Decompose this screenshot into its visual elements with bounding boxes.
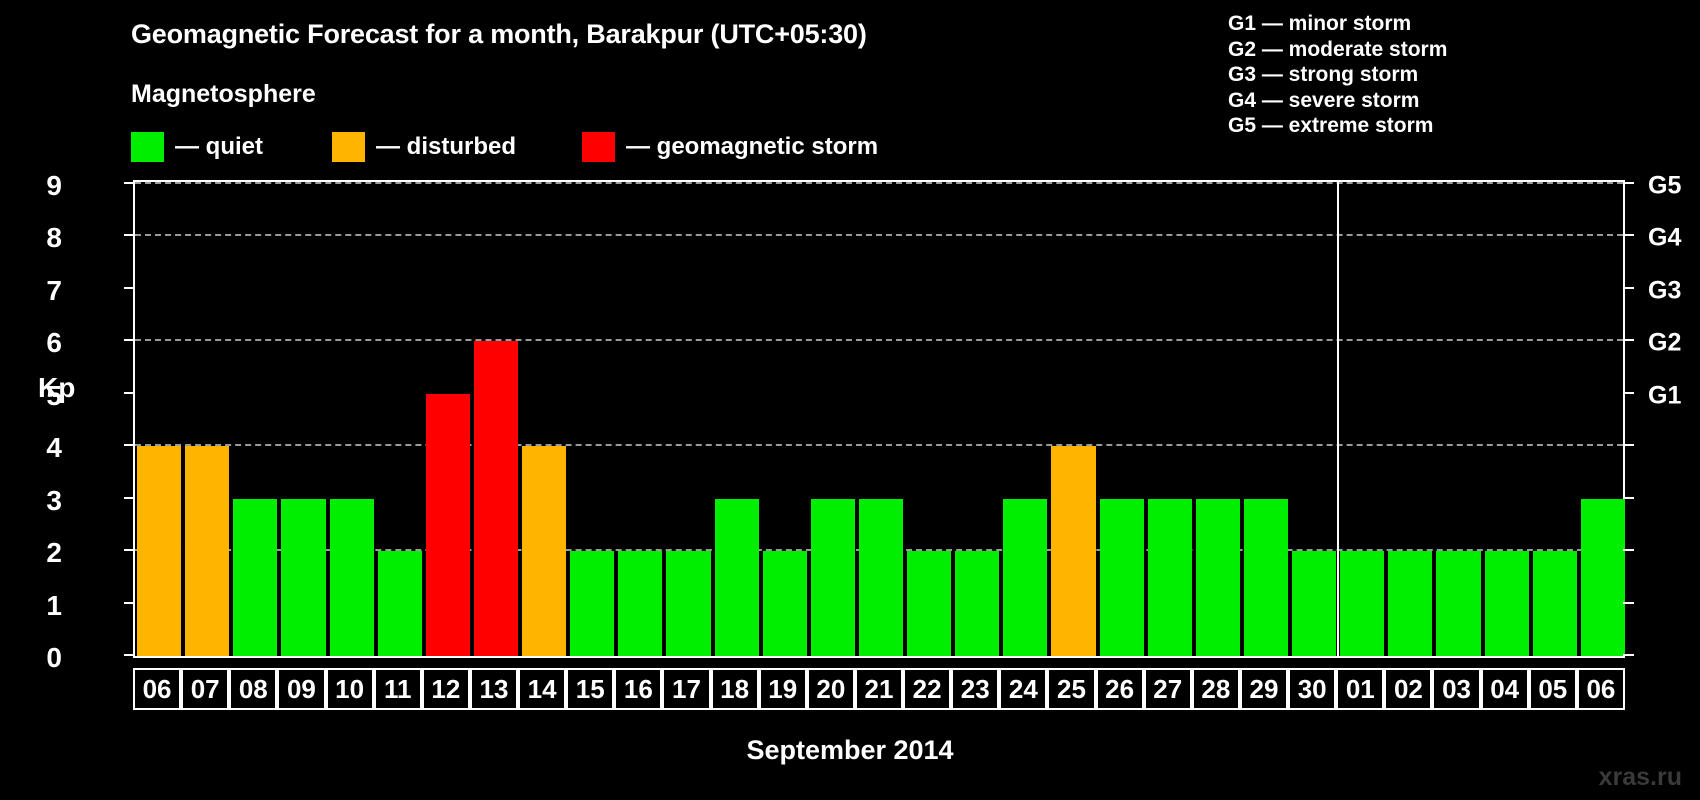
bar-slot [953,182,1001,656]
bar-20[interactable] [811,499,855,656]
x-axis-date-13[interactable]: 19 [759,668,807,710]
x-axis-date-21[interactable]: 27 [1144,668,1192,710]
gscale-legend-line: G2 — moderate storm [1228,37,1447,63]
y-tick-right [1623,392,1634,394]
bar-slot [616,182,664,656]
bar-24[interactable] [1003,499,1047,656]
x-axis-date-29[interactable]: 05 [1529,668,1577,710]
bar-slot [279,182,327,656]
bar-slot [183,182,231,656]
bar-slot [1001,182,1049,656]
bar-slot [1098,182,1146,656]
bar-19[interactable] [763,551,807,656]
y-tick-right [1623,234,1634,236]
y-tick-right [1623,287,1634,289]
bar-01[interactable] [1340,551,1384,656]
bar-slot [1146,182,1194,656]
bar-27[interactable] [1148,499,1192,656]
bar-18[interactable] [715,499,759,656]
magnetosphere-heading: Magnetosphere [131,80,316,109]
bar-07[interactable] [185,446,229,656]
bar-25[interactable] [1051,446,1095,656]
y-tick-right [1623,182,1634,184]
bar-05[interactable] [1533,551,1577,656]
y-axis-tick-label-4: 4 [2,432,62,464]
bar-17[interactable] [666,551,710,656]
x-axis-date-0[interactable]: 06 [133,668,181,710]
y-tick-right [1623,339,1634,341]
x-axis-date-1[interactable]: 07 [181,668,229,710]
x-axis-date-20[interactable]: 26 [1096,668,1144,710]
x-axis-date-9[interactable]: 15 [566,668,614,710]
y-tick-right [1623,549,1634,551]
x-axis-date-28[interactable]: 04 [1481,668,1529,710]
y-tick-left [124,549,135,551]
month-divider-line [1337,182,1339,656]
bar-slot [1386,182,1434,656]
bar-slot [135,182,183,656]
bar-slot [1579,182,1627,656]
page-title: Geomagnetic Forecast for a month, Barakp… [131,19,867,50]
bar-slot [1049,182,1097,656]
y-tick-left [124,234,135,236]
y-tick-right [1623,602,1634,604]
y-tick-left [124,654,135,656]
bar-26[interactable] [1100,499,1144,656]
gscale-legend-line: G1 — minor storm [1228,11,1447,37]
y-axis-tick-label-8: 8 [2,222,62,254]
bar-slot [472,182,520,656]
y-tick-right [1623,444,1634,446]
y-axis-tick-label-7: 7 [2,275,62,307]
bar-slot [568,182,616,656]
bar-12[interactable] [426,394,470,656]
y-tick-right [1623,654,1634,656]
y-tick-left [124,392,135,394]
legend-swatch-icon [131,132,164,162]
bar-slot [857,182,905,656]
bar-11[interactable] [378,551,422,656]
legend-label: — quiet [175,133,263,161]
y-tick-left [124,602,135,604]
x-axis-date-23[interactable]: 29 [1240,668,1288,710]
legend-swatch-icon [582,132,615,162]
bar-slot [1531,182,1579,656]
x-axis-date-16[interactable]: 22 [903,668,951,710]
bar-03[interactable] [1436,551,1480,656]
bar-slot [520,182,568,656]
x-axis-date-30[interactable]: 06 [1577,668,1625,710]
legend-label: — disturbed [376,133,516,161]
bar-slot [424,182,472,656]
bar-slot [713,182,761,656]
x-axis-date-4[interactable]: 10 [326,668,374,710]
y-axis-tick-label-6: 6 [2,327,62,359]
bar-series [135,182,1623,656]
x-axis-date-22[interactable]: 28 [1192,668,1240,710]
bar-22[interactable] [907,551,951,656]
x-axis-date-27[interactable]: 03 [1432,668,1480,710]
bar-14[interactable] [522,446,566,656]
bar-21[interactable] [859,499,903,656]
x-axis-date-12[interactable]: 18 [711,668,759,710]
bar-06[interactable] [1581,499,1625,656]
x-axis-date-boxes: 0607080910111213141516171819202122232425… [133,668,1625,710]
g-axis-label-G5: G5 [1648,172,1681,201]
gscale-legend-line: G3 — strong storm [1228,62,1447,88]
y-tick-left [124,497,135,499]
x-axis-date-7[interactable]: 13 [470,668,518,710]
gscale-legend-line: G5 — extreme storm [1228,113,1447,139]
y-axis-title: Kp [38,372,75,404]
gscale-legend: G1 — minor stormG2 — moderate stormG3 — … [1228,11,1447,139]
x-axis-date-14[interactable]: 20 [807,668,855,710]
y-tick-left [124,287,135,289]
bar-slot [1242,182,1290,656]
bar-28[interactable] [1196,499,1240,656]
x-axis-date-2[interactable]: 08 [229,668,277,710]
gscale-legend-line: G4 — severe storm [1228,88,1447,114]
bar-06[interactable] [137,446,181,656]
bar-slot [1290,182,1338,656]
bar-13[interactable] [474,341,518,656]
x-axis-date-26[interactable]: 02 [1384,668,1432,710]
bar-slot [231,182,279,656]
y-tick-left [124,182,135,184]
g-axis-label-G3: G3 [1648,276,1681,305]
bar-09[interactable] [281,499,325,656]
y-axis-tick-label-2: 2 [2,537,62,569]
g-axis-label-G4: G4 [1648,224,1681,253]
bar-slot [761,182,809,656]
x-axis-date-8[interactable]: 14 [518,668,566,710]
y-axis-tick-label-3: 3 [2,485,62,517]
y-tick-left [124,444,135,446]
g-axis-label-G2: G2 [1648,329,1681,358]
bar-slot [1338,182,1386,656]
legend-entry-quiet: — quiet [131,131,263,163]
x-axis-date-6[interactable]: 12 [422,668,470,710]
x-axis-date-19[interactable]: 25 [1047,668,1095,710]
bar-02[interactable] [1388,551,1432,656]
y-axis-tick-label-9: 9 [2,170,62,202]
legend-label: — geomagnetic storm [626,133,878,161]
x-axis-title: September 2014 [0,735,1700,766]
watermark: xras.ru [1599,763,1682,792]
y-axis-tick-label-1: 1 [2,590,62,622]
y-tick-left [124,339,135,341]
x-axis-date-25[interactable]: 01 [1336,668,1384,710]
bar-slot [809,182,857,656]
bar-04[interactable] [1485,551,1529,656]
bar-30[interactable] [1292,551,1336,656]
x-axis-date-18[interactable]: 24 [999,668,1047,710]
bar-16[interactable] [618,551,662,656]
legend-swatch-icon [332,132,365,162]
x-axis-date-10[interactable]: 16 [614,668,662,710]
bar-15[interactable] [570,551,614,656]
x-axis-date-5[interactable]: 11 [374,668,422,710]
legend-entry-disturbed: — disturbed [332,131,516,163]
x-axis-date-17[interactable]: 23 [951,668,999,710]
bar-08[interactable] [233,499,277,656]
y-axis-tick-label-0: 0 [2,642,62,674]
y-tick-right [1623,497,1634,499]
g-axis-label-G1: G1 [1648,381,1681,410]
bar-slot [905,182,953,656]
bar-slot [1434,182,1482,656]
x-axis-date-15[interactable]: 21 [855,668,903,710]
plot-area [133,180,1625,658]
bar-slot [376,182,424,656]
bar-10[interactable] [330,499,374,656]
bar-slot [1483,182,1531,656]
bar-29[interactable] [1244,499,1288,656]
bar-slot [328,182,376,656]
x-axis-date-24[interactable]: 30 [1288,668,1336,710]
bar-23[interactable] [955,551,999,656]
x-axis-date-3[interactable]: 09 [277,668,325,710]
x-axis-date-11[interactable]: 17 [662,668,710,710]
bar-slot [664,182,712,656]
legend-entry-geomagneticstorm: — geomagnetic storm [582,131,878,163]
bar-slot [1194,182,1242,656]
